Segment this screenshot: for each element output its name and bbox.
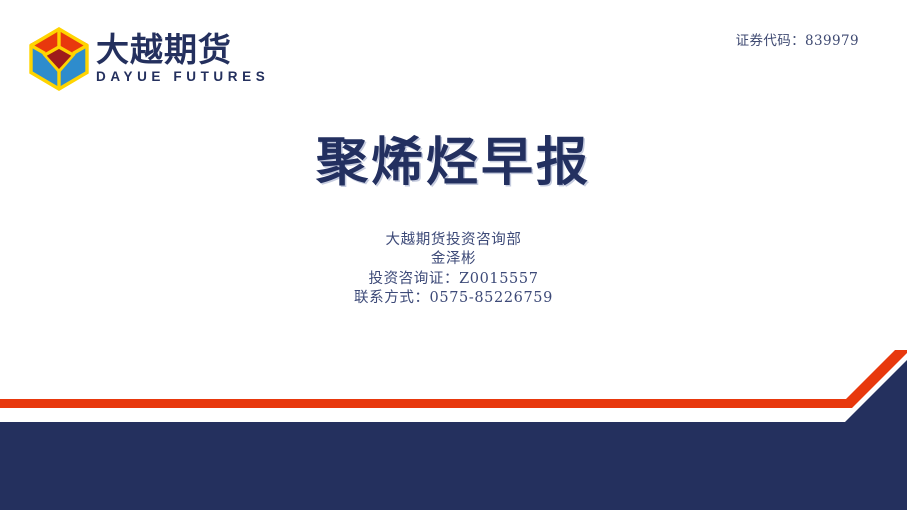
navy-band-shape bbox=[0, 360, 907, 510]
stock-code-label: 证券代码：839979 bbox=[736, 29, 859, 49]
page-title: 聚烯烃早报 bbox=[0, 133, 907, 193]
presentation-cover-slide: 大越期货 DAYUE FUTURES 证券代码：839979 聚烯烃早报 大越期… bbox=[0, 0, 907, 510]
author-info-block: 大越期货投资咨询部 金泽彬 投资咨询证：Z0015557 联系方式：0575-8… bbox=[0, 231, 907, 309]
company-logo: 大越期货 DAYUE FUTURES bbox=[28, 26, 269, 92]
bottom-decoration bbox=[0, 350, 907, 510]
logo-chinese-name: 大越期货 bbox=[96, 33, 269, 68]
license-number-line: 投资咨询证：Z0015557 bbox=[0, 270, 907, 289]
contact-phone-line: 联系方式：0575-85226759 bbox=[0, 289, 907, 308]
logo-wordmark: 大越期货 DAYUE FUTURES bbox=[96, 33, 269, 85]
orange-stripe-shape bbox=[0, 350, 907, 408]
logo-english-name: DAYUE FUTURES bbox=[96, 70, 269, 85]
department-line: 大越期货投资咨询部 bbox=[0, 231, 907, 250]
author-name-line: 金泽彬 bbox=[0, 250, 907, 269]
dayue-cube-logo-icon bbox=[28, 26, 90, 92]
